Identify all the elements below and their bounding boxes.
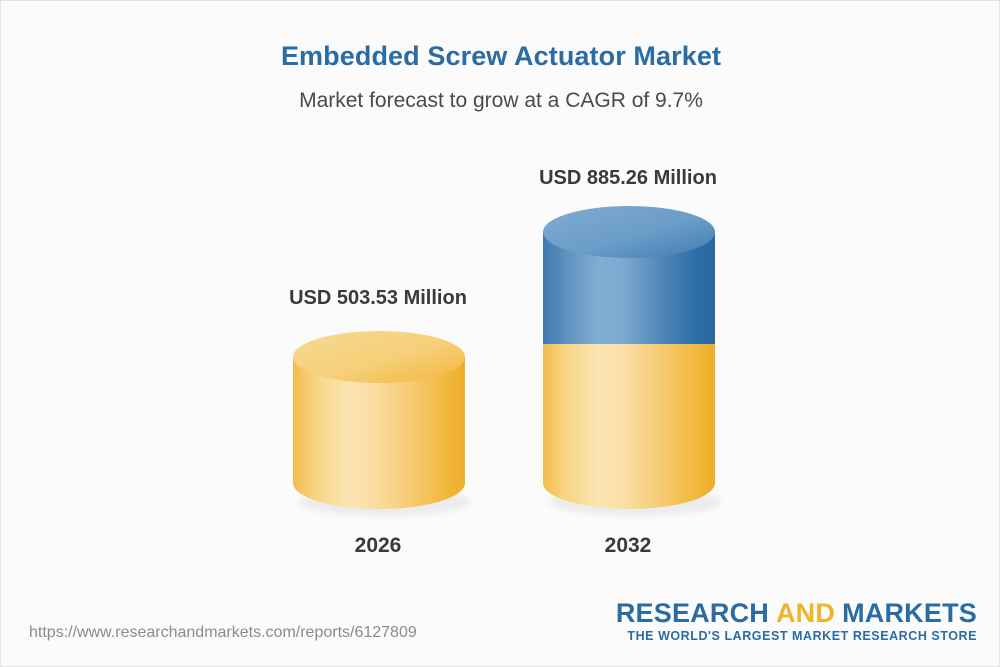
category-label-2026: 2026 [248,534,508,558]
logo-word-markets: MARKETS [842,598,977,628]
report-url[interactable]: https://www.researchandmarkets.com/repor… [29,624,417,642]
chart-subtitle: Market forecast to grow at a CAGR of 9.7… [1,89,1000,113]
logo-wordmark: RESEARCHANDMARKETS [616,599,977,627]
data-label-2026: USD 503.53 Million [248,287,508,310]
logo-word-and: AND [776,598,835,628]
category-label-2032: 2032 [498,534,758,558]
bar-cap-2032 [543,206,715,258]
logo-word-research: RESEARCH [616,598,769,628]
bar-cap-2026 [293,331,465,383]
bar-2032 [543,206,715,509]
bar-segment-2032-base [543,344,715,509]
logo[interactable]: RESEARCHANDMARKETS THE WORLD'S LARGEST M… [616,599,977,643]
chart-canvas: Embedded Screw Actuator Market Market fo… [0,0,1000,667]
bar-2026 [293,331,465,509]
logo-tagline: THE WORLD'S LARGEST MARKET RESEARCH STOR… [616,629,977,643]
page-title: Embedded Screw Actuator Market [1,41,1000,72]
data-label-2032: USD 885.26 Million [498,167,758,190]
